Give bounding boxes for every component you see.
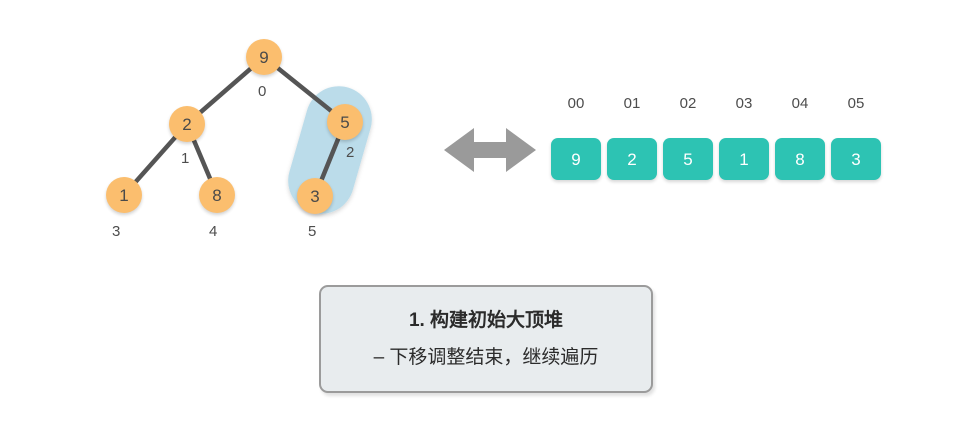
diagram-canvas: 9 2 5 1 8 3 0 1 2 3 4 5 00 9 01 2 02 5 0… xyxy=(0,0,980,443)
tree-node-index-1: 1 xyxy=(181,151,189,166)
array-cell[interactable]: 5 xyxy=(663,138,713,180)
tree-node-index-4: 4 xyxy=(209,224,217,239)
tree-node-index-3: 3 xyxy=(112,224,120,239)
tree-node-index-2: 2 xyxy=(346,145,354,160)
caption-subtitle: – 下移调整结束，继续遍历 xyxy=(374,348,599,367)
tree-node-2[interactable]: 5 xyxy=(327,104,363,140)
array-index-label: 02 xyxy=(663,96,713,112)
tree-node-index-0: 0 xyxy=(258,84,266,99)
array-column-3: 03 1 xyxy=(719,96,769,180)
tree-node-value: 2 xyxy=(182,116,191,133)
tree-node-5[interactable]: 3 xyxy=(297,178,333,214)
bidirectional-arrow-icon xyxy=(444,128,536,172)
tree-node-value: 8 xyxy=(212,187,221,204)
array-index-label: 03 xyxy=(719,96,769,112)
array-column-0: 00 9 xyxy=(551,96,601,180)
tree-node-4[interactable]: 8 xyxy=(199,177,235,213)
array-column-1: 01 2 xyxy=(607,96,657,180)
tree-node-index-5: 5 xyxy=(308,224,316,239)
array-cell[interactable]: 3 xyxy=(831,138,881,180)
array-representation: 00 9 01 2 02 5 03 1 04 8 05 3 xyxy=(551,96,881,186)
array-index-label: 05 xyxy=(831,96,881,112)
array-cell[interactable]: 9 xyxy=(551,138,601,180)
array-index-label: 04 xyxy=(775,96,825,112)
tree-node-value: 5 xyxy=(340,114,349,131)
array-index-label: 01 xyxy=(607,96,657,112)
caption-box: 1. 构建初始大顶堆 – 下移调整结束，继续遍历 xyxy=(319,285,653,393)
tree-node-0[interactable]: 9 xyxy=(246,39,282,75)
tree-node-1[interactable]: 2 xyxy=(169,106,205,142)
caption-title: 1. 构建初始大顶堆 xyxy=(409,311,563,330)
array-cell[interactable]: 8 xyxy=(775,138,825,180)
array-cell[interactable]: 2 xyxy=(607,138,657,180)
tree-node-value: 3 xyxy=(310,188,319,205)
tree-node-value: 1 xyxy=(119,187,128,204)
array-cell[interactable]: 1 xyxy=(719,138,769,180)
tree-node-3[interactable]: 1 xyxy=(106,177,142,213)
array-index-label: 00 xyxy=(551,96,601,112)
array-column-2: 02 5 xyxy=(663,96,713,180)
array-column-5: 05 3 xyxy=(831,96,881,180)
array-column-4: 04 8 xyxy=(775,96,825,180)
tree-node-value: 9 xyxy=(259,49,268,66)
